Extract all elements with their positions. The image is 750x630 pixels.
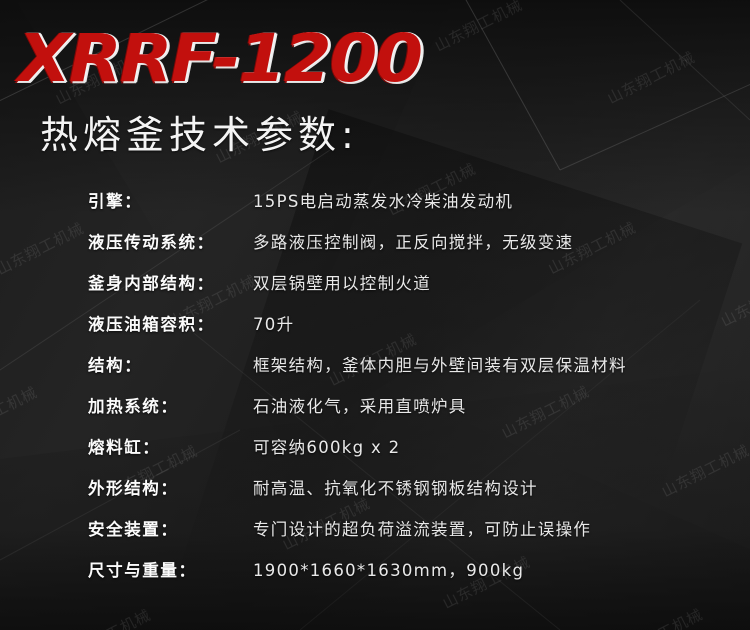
spec-row: 尺寸与重量： 1900*1660*1630mm，900kg [0,557,750,598]
spec-value: 可容纳600kg x 2 [253,434,750,458]
content-layer: XRRF-1200 热熔釜技术参数: 引擎： 15PS电启动蒸发水冷柴油发动机 … [0,0,750,630]
spec-row: 结构： 框架结构，釜体内胆与外壁间装有双层保温材料 [0,352,750,393]
spec-label: 尺寸与重量： [88,557,253,581]
spec-label: 液压传动系统： [88,229,253,253]
spec-row: 液压传动系统： 多路液压控制阀，正反向搅拌，无级变速 [0,229,750,270]
spec-label: 安全装置： [88,516,253,540]
spec-label: 引擎： [88,188,253,212]
spec-label: 加热系统： [88,393,253,417]
spec-row: 釜身内部结构： 双层锅壁用以控制火道 [0,270,750,311]
spec-row: 熔料缸： 可容纳600kg x 2 [0,434,750,475]
spec-value: 1900*1660*1630mm，900kg [253,557,750,581]
spec-value: 耐高温、抗氧化不锈钢钢板结构设计 [253,475,750,499]
product-model-title: XRRF-1200 [18,26,421,92]
spec-label: 釜身内部结构： [88,270,253,294]
spec-value: 70升 [253,311,750,335]
spec-value: 框架结构，釜体内胆与外壁间装有双层保温材料 [253,352,750,376]
section-title: 热熔釜技术参数: [40,112,359,160]
spec-value: 专门设计的超负荷溢流装置，可防止误操作 [253,516,750,540]
spec-value: 石油液化气，采用直喷炉具 [253,393,750,417]
spec-label: 外形结构： [88,475,253,499]
spec-label: 熔料缸： [88,434,253,458]
spec-label: 结构： [88,352,253,376]
spec-row: 安全装置： 专门设计的超负荷溢流装置，可防止误操作 [0,516,750,557]
spec-row: 引擎： 15PS电启动蒸发水冷柴油发动机 [0,188,750,229]
spec-value: 15PS电启动蒸发水冷柴油发动机 [253,188,750,212]
spec-table: 引擎： 15PS电启动蒸发水冷柴油发动机 液压传动系统： 多路液压控制阀，正反向… [0,188,750,598]
spec-row: 外形结构： 耐高温、抗氧化不锈钢钢板结构设计 [0,475,750,516]
spec-row: 加热系统： 石油液化气，采用直喷炉具 [0,393,750,434]
spec-row: 液压油箱容积： 70升 [0,311,750,352]
spec-value: 多路液压控制阀，正反向搅拌，无级变速 [253,229,750,253]
spec-label: 液压油箱容积： [88,311,253,335]
spec-value: 双层锅壁用以控制火道 [253,270,750,294]
product-spec-banner: 山东翔工机械 山东翔工机械 山东翔工机械 山东翔工机械 山东翔工机械 山东翔工机… [0,0,750,630]
